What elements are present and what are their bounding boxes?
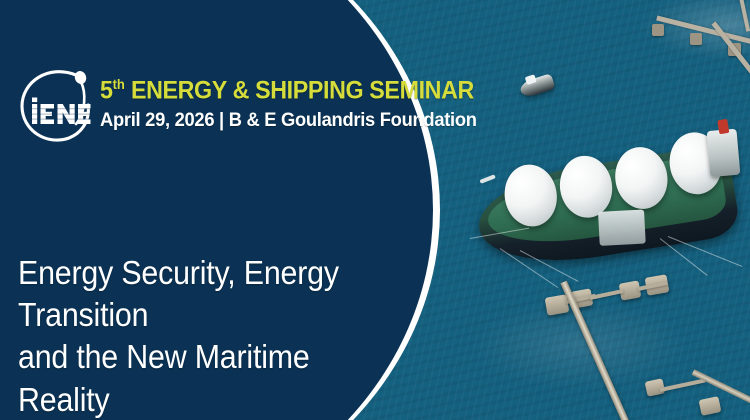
pier-pile	[652, 24, 664, 36]
event-date-venue: April 29, 2026 | B & E Goulandris Founda…	[100, 110, 478, 131]
headline-line-1: Energy Security, Energy Transition	[18, 254, 339, 333]
loading-manifold	[598, 209, 646, 245]
ship-funnel	[717, 119, 729, 134]
event-header: 5th ENERGY & SHIPPING SEMINAR April 29, …	[14, 55, 434, 153]
seminar-ordinal: 5	[100, 76, 113, 104]
pier-pile	[690, 33, 702, 45]
banner-content: 5th ENERGY & SHIPPING SEMINAR April 29, …	[0, 0, 440, 420]
seminar-title-text: ENERGY & SHIPPING SEMINAR	[131, 76, 474, 104]
seminar-title: 5th ENERGY & SHIPPING SEMINAR	[100, 77, 474, 103]
ship-bridge	[706, 129, 740, 177]
headline-line-2: and the New Maritime Reality	[18, 336, 395, 420]
bow-mast	[479, 174, 495, 183]
iene-logo[interactable]	[14, 58, 96, 150]
event-banner: 5th ENERGY & SHIPPING SEMINAR April 29, …	[0, 0, 750, 420]
event-title-block: 5th ENERGY & SHIPPING SEMINAR April 29, …	[100, 77, 502, 132]
page-title: Energy Security, Energy Transition and t…	[18, 252, 395, 420]
seminar-ordinal-suffix: th	[113, 76, 125, 92]
